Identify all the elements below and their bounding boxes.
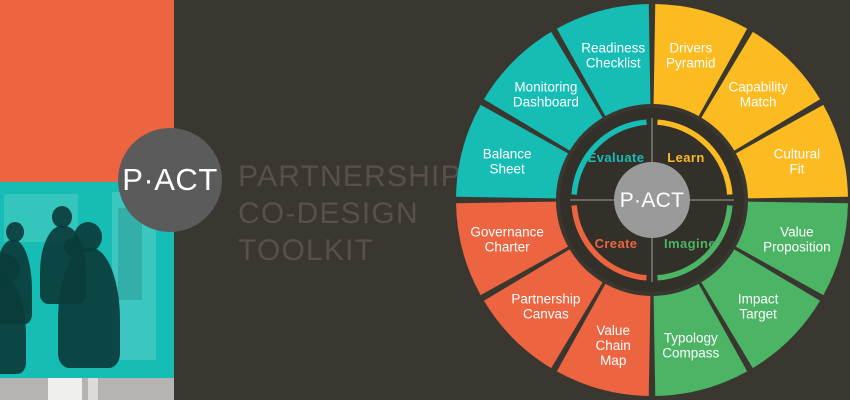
wheel-segment-label: BalanceSheet bbox=[483, 147, 532, 177]
wheel-phase-label[interactable]: Create bbox=[595, 236, 638, 251]
person-head bbox=[6, 222, 24, 242]
title-line-1: PARTNERSHIP bbox=[238, 158, 478, 195]
pact-logo-text: P·ACT bbox=[122, 162, 218, 198]
title-line-2: CO-DESIGN bbox=[238, 195, 478, 232]
wheel-segment-label: ValueChainMap bbox=[596, 323, 631, 368]
person-body bbox=[58, 248, 120, 368]
person-head bbox=[52, 206, 72, 228]
wheel-segment-label: DriversPyramid bbox=[666, 41, 716, 71]
wheel-phase-label[interactable]: Evaluate bbox=[588, 150, 645, 165]
wheel-phase-label[interactable]: Imagine bbox=[664, 236, 716, 251]
floor-highlight-secondary bbox=[88, 378, 98, 400]
title-line-3: TOOLKIT bbox=[238, 232, 478, 269]
wheel-segment-label: ReadinessChecklist bbox=[581, 41, 645, 71]
wheel-segment-label: ImpactTarget bbox=[738, 292, 779, 322]
wheel-segment-label: MonitoringDashboard bbox=[513, 79, 579, 109]
poster-canvas: P·ACT PARTNERSHIP CO-DESIGN TOOLKIT Driv… bbox=[0, 0, 850, 400]
person-head bbox=[64, 238, 80, 256]
floor-highlight bbox=[48, 378, 82, 400]
floor-strip bbox=[0, 378, 174, 400]
page-title: PARTNERSHIP CO-DESIGN TOOLKIT bbox=[238, 158, 478, 269]
wheel-svg: DriversPyramidCapabilityMatchCulturalFit… bbox=[455, 0, 850, 400]
wheel-phase-label[interactable]: Learn bbox=[667, 150, 704, 165]
pact-logo: P·ACT bbox=[118, 128, 222, 232]
wheel-segment-label: TypologyCompass bbox=[662, 330, 719, 360]
wheel-center-label: P·ACT bbox=[620, 189, 685, 212]
pact-wheel-diagram: DriversPyramidCapabilityMatchCulturalFit… bbox=[455, 0, 850, 400]
